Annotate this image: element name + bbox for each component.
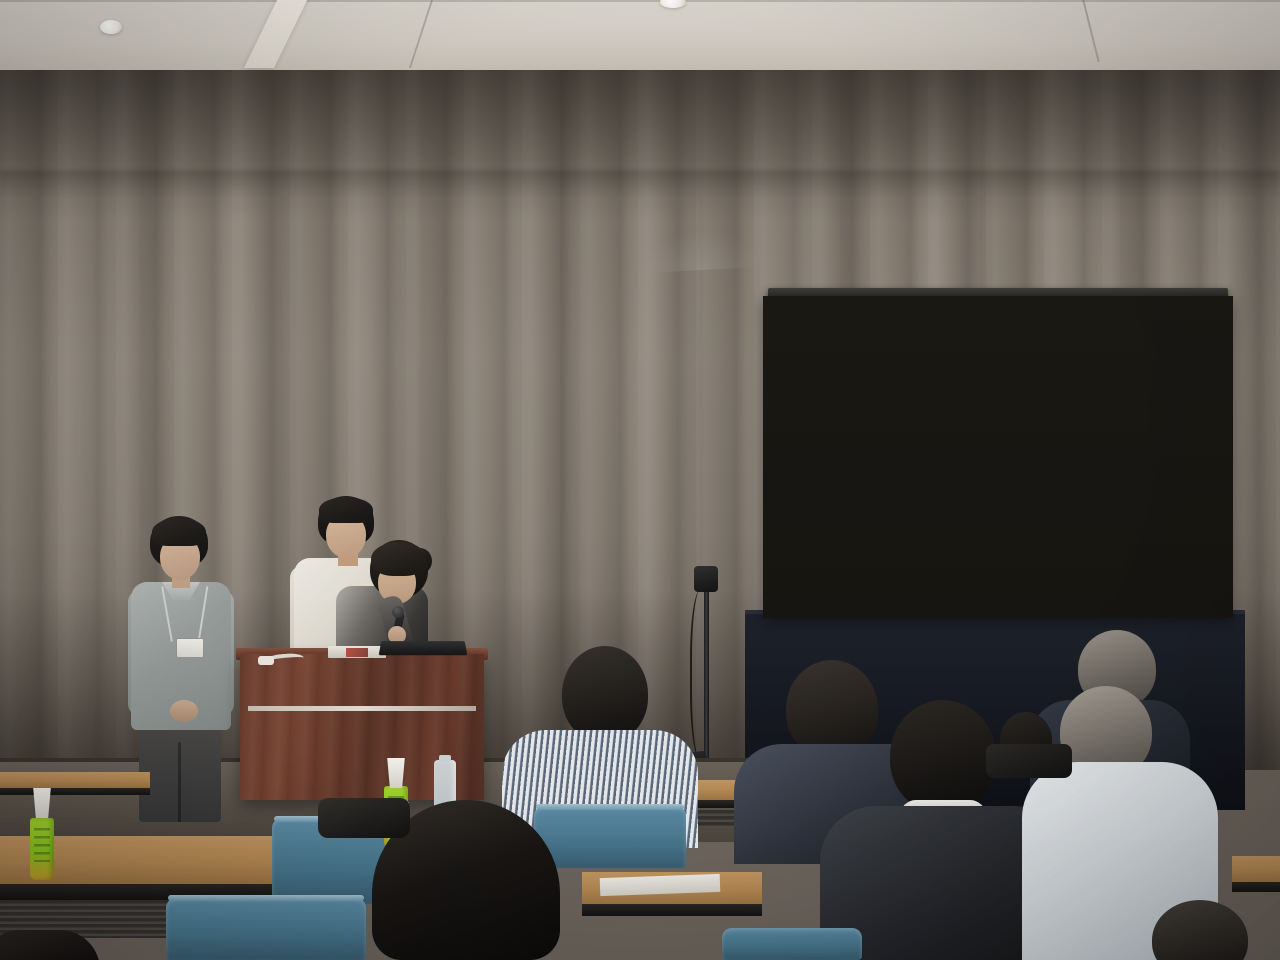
podium-light	[258, 656, 274, 665]
black-bag	[986, 744, 1072, 778]
laptop	[379, 641, 468, 655]
chair-top-rail	[168, 895, 364, 901]
chair	[166, 898, 366, 960]
name-badge	[176, 638, 204, 658]
ceiling-downlight	[100, 20, 122, 34]
projection-screen-frame: The Problem 地域の住民が地元でやっている活動を知る機会がない 祭り・…	[763, 296, 1233, 618]
ceiling-downlight	[660, 0, 686, 8]
microphone-head-icon	[392, 606, 404, 618]
table-edge	[1232, 882, 1280, 892]
ceiling	[0, 0, 1280, 76]
chair	[722, 928, 862, 960]
presenter-center-fringe	[319, 497, 373, 523]
presenter-left-leg-split	[178, 742, 181, 822]
chair	[534, 806, 686, 868]
table-edge	[0, 788, 150, 795]
camera-cable	[690, 590, 716, 760]
video-camera-body	[694, 566, 718, 592]
black-bag	[318, 798, 410, 838]
ceiling-strip-light	[244, 0, 310, 68]
presenter-left-fringe	[152, 518, 206, 546]
conference-presentation-photo: The Problem 地域の住民が地元でやっている活動を知る機会がない 祭り・…	[0, 0, 1280, 960]
podium-trim	[248, 706, 476, 711]
podium-paper-marking	[346, 648, 368, 657]
presenter-right-fringe	[371, 542, 427, 576]
table-edge	[582, 904, 762, 916]
chair-top-rail	[536, 804, 684, 810]
green-tea-bottle	[30, 818, 54, 880]
presenter-left-hands	[170, 700, 198, 722]
